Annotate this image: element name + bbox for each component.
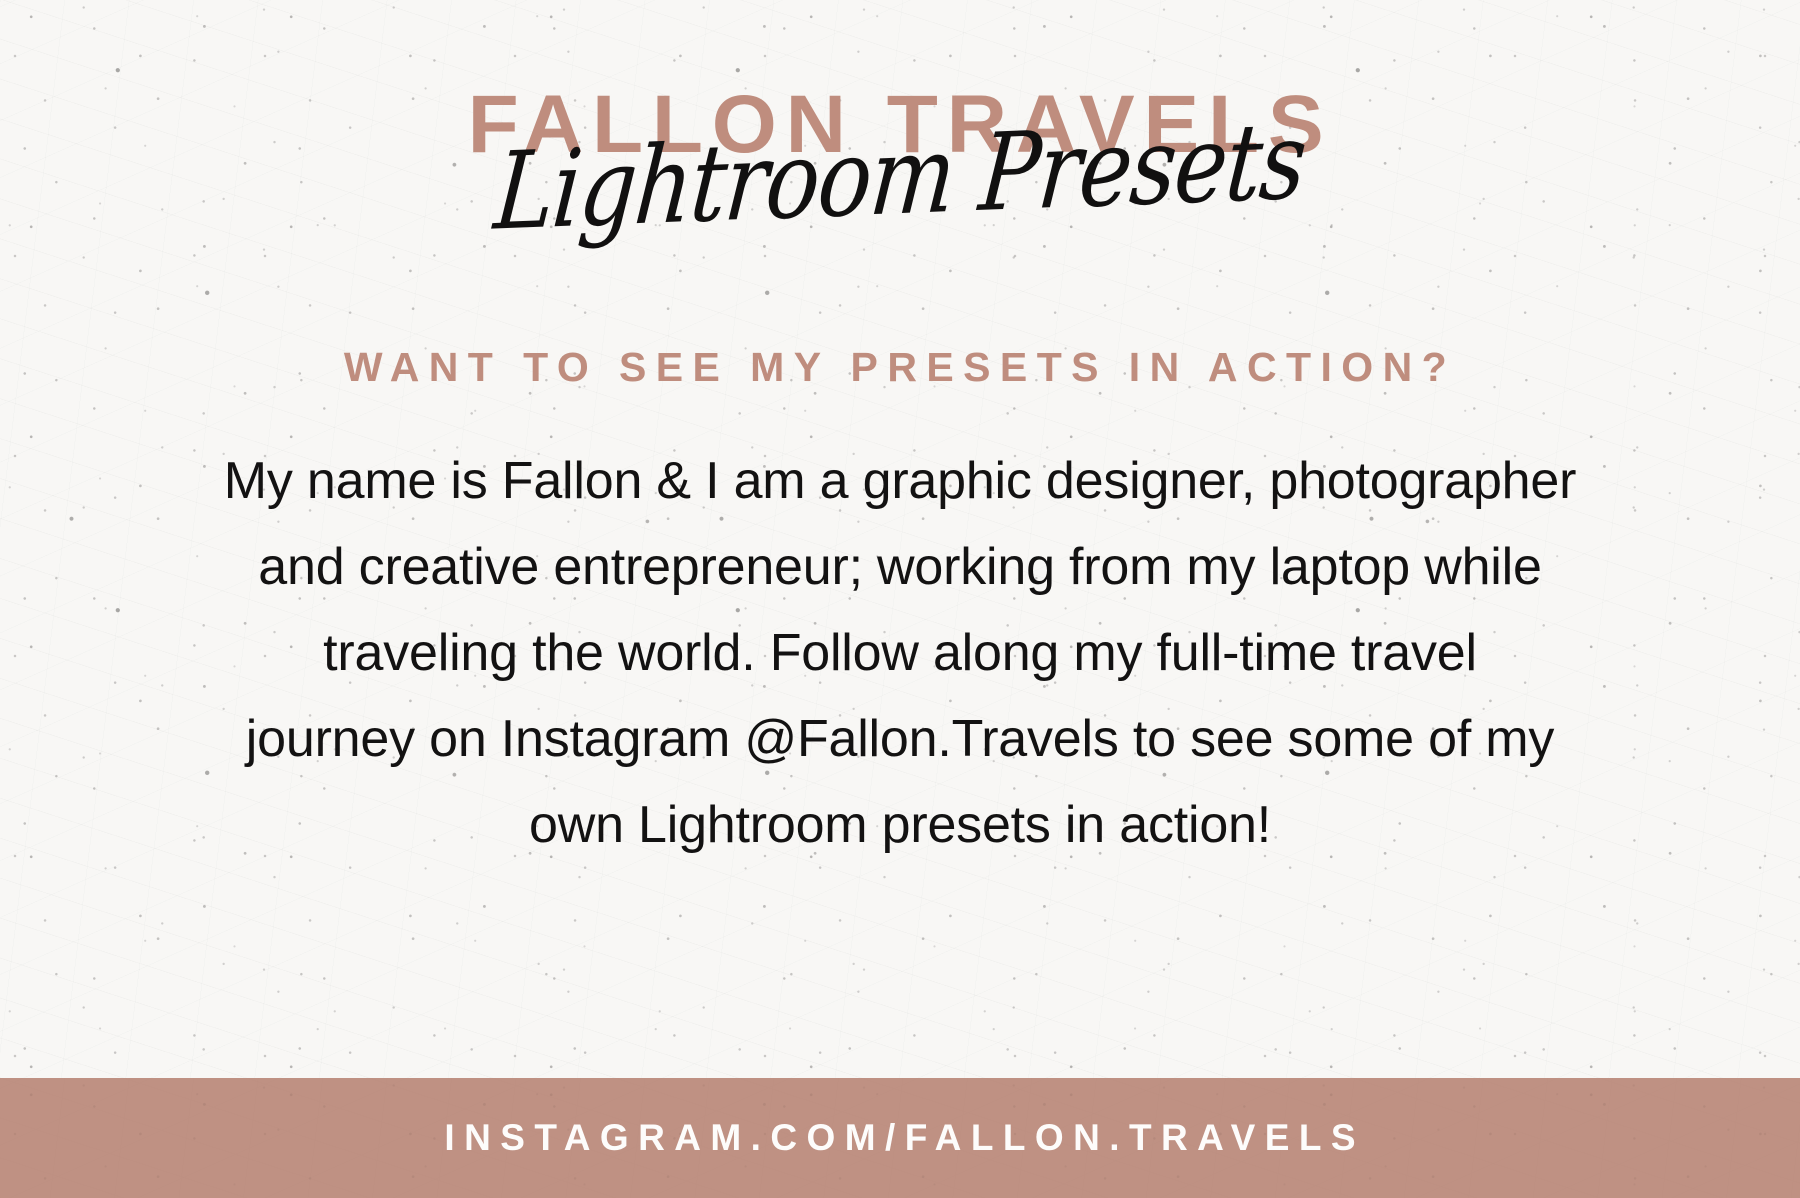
body-line: traveling the world. Follow along my ful… [110,610,1690,696]
section-subheading: WANT TO SEE MY PRESETS IN ACTION? [0,344,1800,391]
body-paragraph: My name is Fallon & I am a graphic desig… [110,438,1690,868]
brand-lockup: FALLON TRAVELS Lightroom Presets [0,86,1800,223]
body-line: My name is Fallon & I am a graphic desig… [110,438,1690,524]
body-line: own Lightroom presets in action! [110,782,1690,868]
footer-url-bar[interactable]: INSTAGRAM.COM/FALLON.TRAVELS [0,1078,1800,1198]
card-content: FALLON TRAVELS Lightroom Presets WANT TO… [0,0,1800,1198]
instagram-url-label[interactable]: INSTAGRAM.COM/FALLON.TRAVELS [435,1117,1365,1159]
body-line: and creative entrepreneur; working from … [110,524,1690,610]
promo-card: FALLON TRAVELS Lightroom Presets WANT TO… [0,0,1800,1198]
body-line: journey on Instagram @Fallon.Travels to … [110,696,1690,782]
